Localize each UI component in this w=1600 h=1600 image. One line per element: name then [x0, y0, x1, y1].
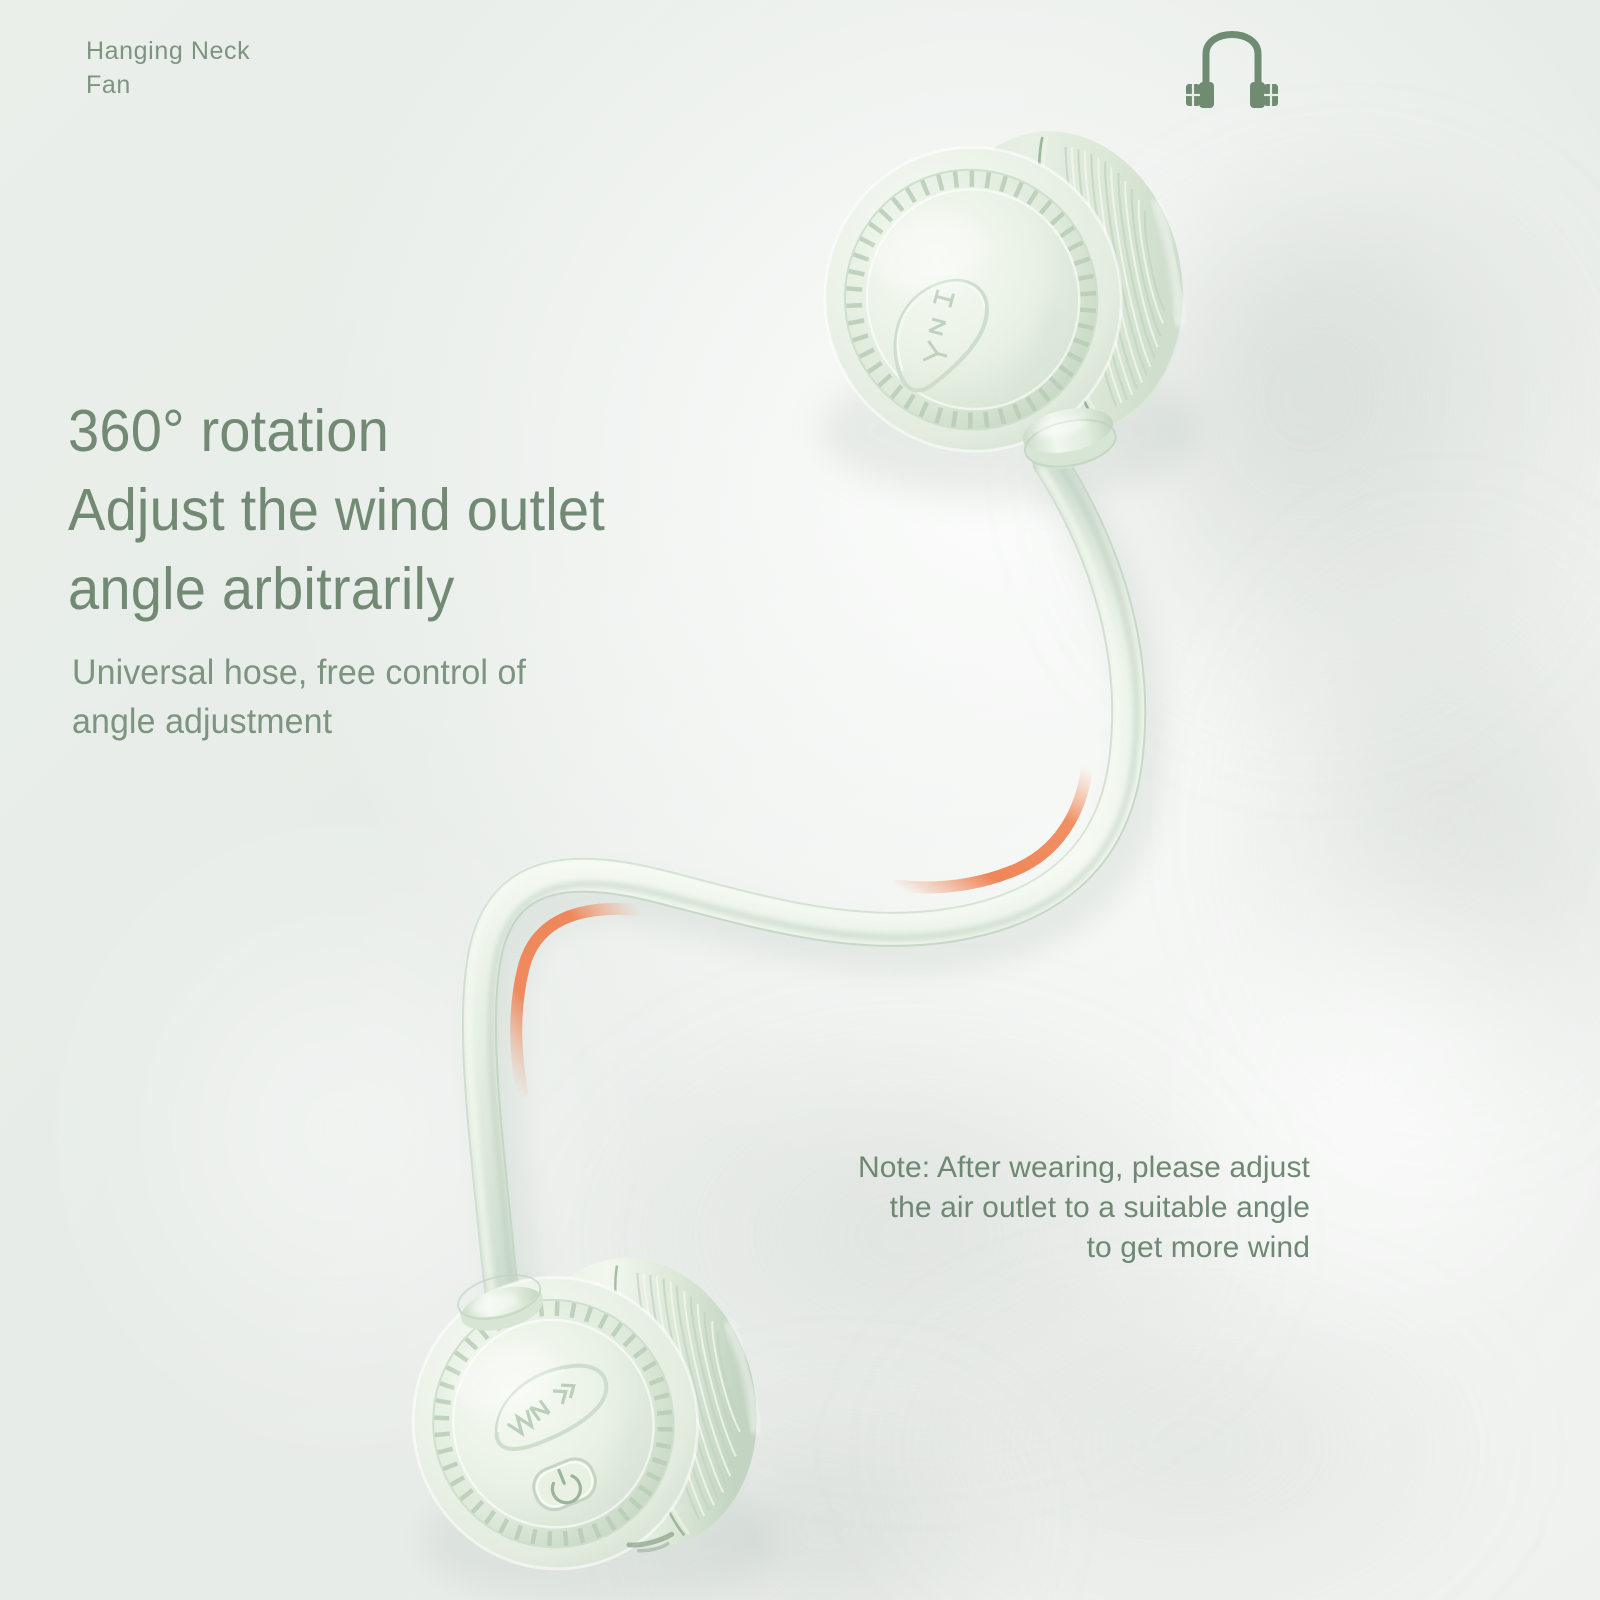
subheadline: Universal hose, free control of angle ad…	[72, 648, 526, 746]
accent-arc-left	[516, 909, 640, 1092]
headline: 360° rotation Adjust the wind outlet ang…	[68, 392, 605, 629]
product-scene: Hanging Neck Fan 360° rotation Adjust th…	[0, 0, 1600, 1600]
brand-title: Hanging Neck Fan	[86, 34, 250, 102]
neck-fan-icon	[1186, 8, 1278, 116]
note-text: Note: After wearing, please adjust the a…	[858, 1148, 1310, 1268]
product-illustration	[0, 0, 1600, 1600]
